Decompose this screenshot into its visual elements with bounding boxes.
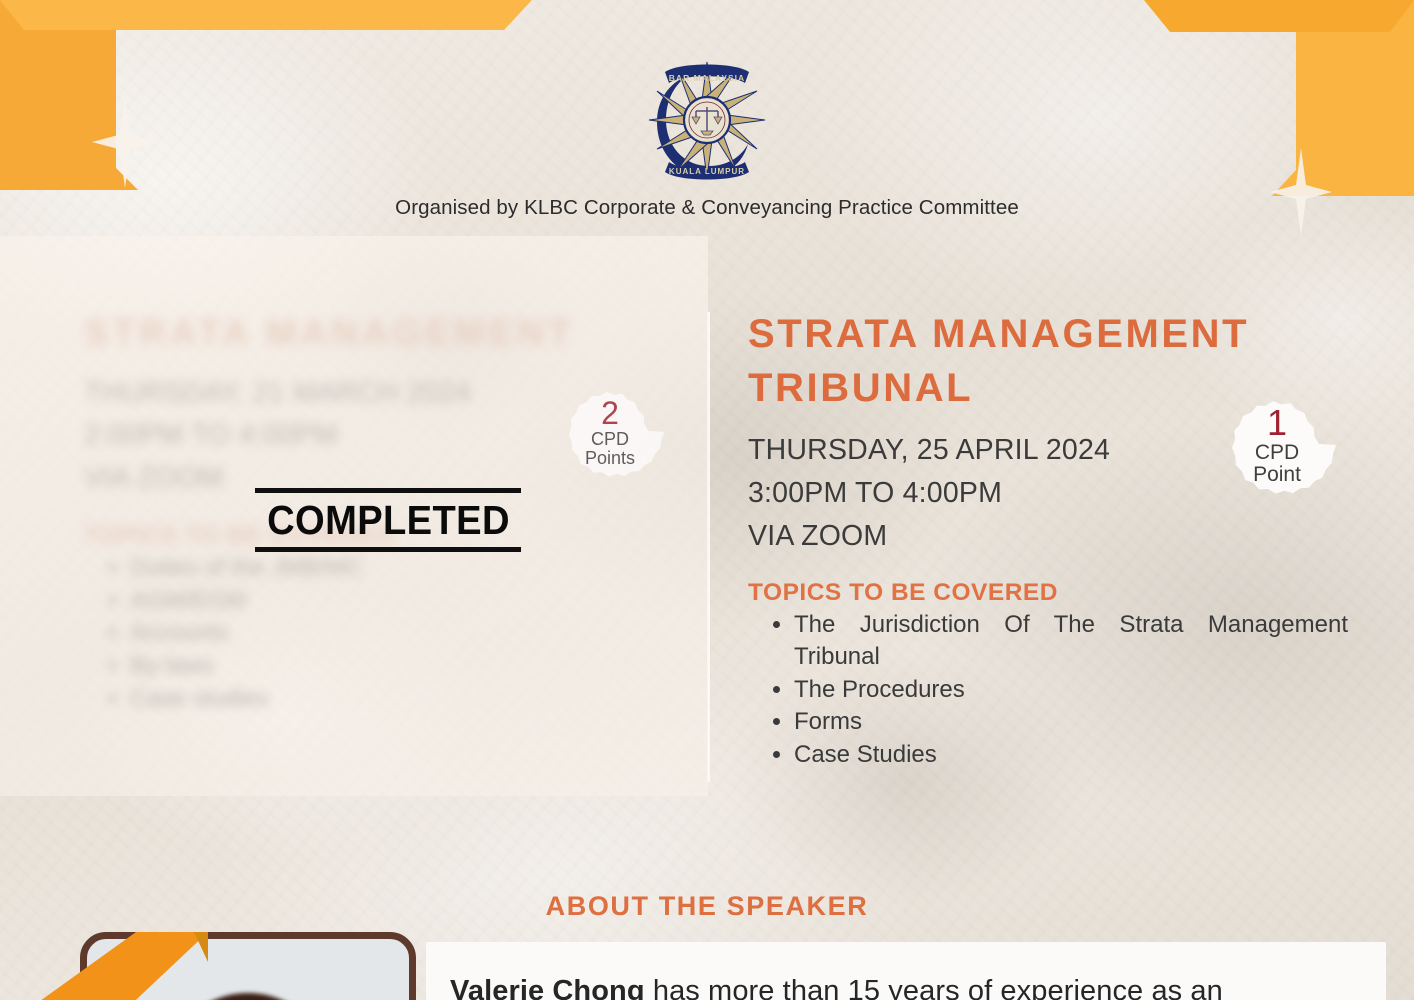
logo-container: BAR MALAYSIA KUALA LUMPUR [0,50,1414,182]
corner-bracket-top-right-bar [1144,0,1414,32]
cpd-badge-label-line1: CPD [1255,441,1299,464]
speaker-name: Valerie Chong [450,975,645,1000]
session-platform: VIA ZOOM [748,515,1348,558]
topic-item: Case Studies [794,739,1348,771]
svg-text:KUALA LUMPUR: KUALA LUMPUR [669,167,745,176]
topic-item: Duties of the JMB/MC [130,552,684,584]
speaker-bio-card: Valerie Chong has more than 15 years of … [426,942,1386,1000]
completed-stamp-label: COMPLETED [267,497,510,544]
session-title: STRATA MANAGEMENT TRIBUNAL [748,308,1348,415]
topic-item: Forms [794,706,1348,738]
completed-stamp: COMPLETED [255,488,521,552]
session-title: STRATA MANAGEMENT [84,308,684,358]
session-card-upcoming: STRATA MANAGEMENT TRIBUNAL THURSDAY, 25 … [748,308,1348,772]
corner-bracket-top-left-bar [0,0,532,30]
topic-item: The Procedures [794,674,1348,706]
bar-malaysia-logo-icon: BAR MALAYSIA KUALA LUMPUR [647,50,767,182]
cpd-badge-number: 2 [601,397,619,429]
column-divider [707,312,710,782]
topic-item: Accounts [130,617,684,649]
cpd-badge-label-line1: CPD [591,429,629,449]
topic-item: Case studies [130,683,684,715]
speaker-bio-rest: has more than 15 years of experience as … [645,975,1223,1000]
speaker-bio-text: Valerie Chong has more than 15 years of … [450,972,1350,1000]
cpd-badge-label-line2: Points [585,448,635,468]
cpd-badge-number: 1 [1267,405,1287,441]
svg-text:BAR MALAYSIA: BAR MALAYSIA [669,73,745,83]
topics-list: Duties of the JMB/MC AGM/EGM Accounts By… [84,552,684,714]
topics-list: The Jurisdiction Of The Strata Managemen… [748,609,1348,770]
poster-canvas: BAR MALAYSIA KUALA LUMPUR Organised by K… [0,0,1414,1000]
cpd-badge-label-line2: Point [1253,463,1301,486]
topic-item: AGM/EGM [130,585,684,617]
speaker-photo-frame [80,932,416,1000]
cpd-badge-label: CPD Points [585,430,635,467]
topic-item: By-laws [130,650,684,682]
speaker-portrait [148,993,348,1000]
organiser-line: Organised by KLBC Corporate & Conveyanci… [0,196,1414,220]
about-speaker-heading: ABOUT THE SPEAKER [0,891,1414,922]
topic-item: The Jurisdiction Of The Strata Managemen… [794,609,1348,672]
topics-heading: TOPICS TO BE COVERED [748,579,1348,607]
cpd-badge-label: CPD Point [1253,442,1301,486]
